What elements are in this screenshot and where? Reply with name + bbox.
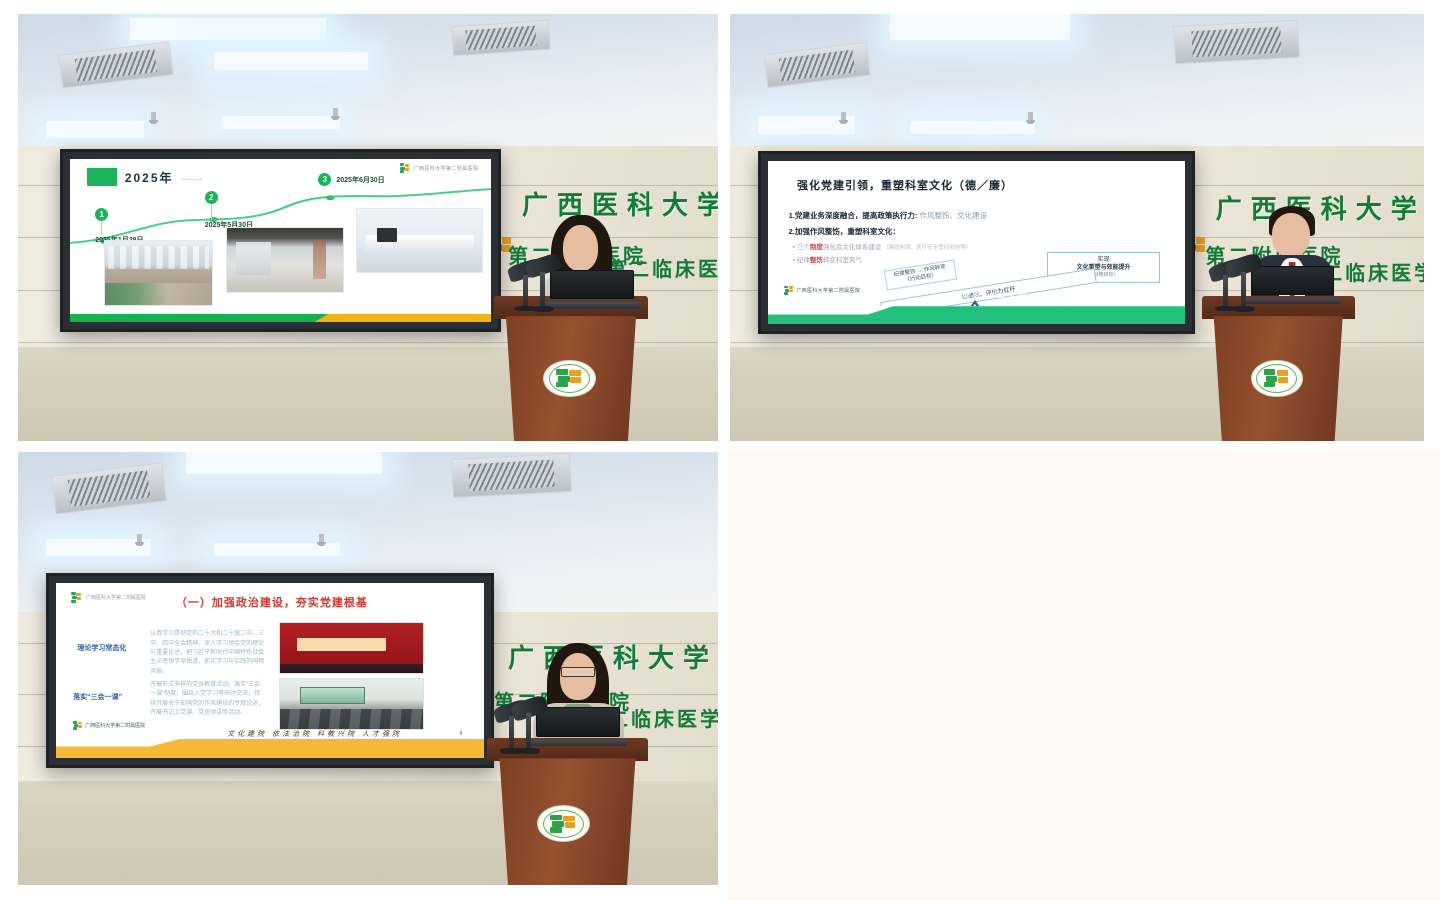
conference-room-scene: 广西医科大学 第二附属医院 第二临床医学院 强化党建引领，重塑科室文化（德／廉）… (730, 14, 1424, 441)
timeline-node-1: 1 2025年1月28日 (95, 208, 143, 245)
laptop-icon (550, 270, 634, 308)
face (1272, 213, 1310, 257)
slide-page-number: 4 (459, 731, 462, 737)
slide-canvas: 2025年 ...... 广西医科大学第二附属医院 (70, 159, 491, 323)
slide-political-construction: 广西医科大学第二附属医院 （一）加强政治建设，夯实党建根基 理论学习常态化 认真… (56, 583, 484, 758)
slide-brand: 广西医科大学第二附属医院 (400, 163, 479, 173)
slide-image-classroom-meeting (279, 678, 425, 730)
slide-footer (768, 306, 1185, 324)
goal-box-label: 实现 (1050, 256, 1157, 264)
hospital-logo-icon (784, 286, 793, 295)
led-display-screen[interactable]: 广西医科大学第二附属医院 （一）加强政治建设，夯实党建根基 理论学习常态化 认真… (46, 573, 494, 768)
sprinkler-icon (151, 112, 156, 121)
ceiling-light-icon (186, 452, 382, 474)
podium (494, 296, 648, 441)
ceiling-light-icon (890, 14, 1070, 40)
face (563, 225, 598, 271)
row-body-2: 开展形式多样的党员教育活动，落实“三会一课”制度，围绕入党学习等研讨交流，持续开… (150, 681, 266, 718)
ceiling-vent-icon (451, 453, 572, 498)
ceiling-vent-icon (451, 19, 551, 56)
sprinkler-icon (137, 534, 142, 543)
podium-seal-icon (543, 360, 595, 398)
photo-tile-speaker-female-timeline[interactable]: 广西医科大学 第二附属医院 第二临床医学院 2025年 ...... (18, 14, 718, 441)
slide-footer-brand: 广西医科大学第二附属医院 (784, 286, 860, 295)
slide-title: （一）加强政治建设，夯实党建根基 (176, 594, 368, 610)
footer-brand-label: 广西医科大学第二附属医院 (796, 287, 860, 294)
podium (487, 738, 648, 885)
slide-footer-green-bar (70, 314, 331, 322)
sprinkler-icon (333, 108, 338, 117)
conference-room-scene: 广西医科大学 第二附属医院 第二临床医学院 2025年 ...... (18, 14, 718, 441)
ceiling-light-icon (221, 116, 340, 129)
photo-tile-speaker-male-party-building[interactable]: 广西医科大学 第二附属医院 第二临床医学院 强化党建引领，重塑科室文化（德／廉）… (730, 14, 1424, 441)
led-display-screen[interactable]: 2025年 ...... 广西医科大学第二附属医院 (60, 149, 501, 333)
slide-title: 2025年 (125, 169, 174, 186)
slide-image-red-conference (279, 622, 425, 674)
slide-footer-slogan: 文化建院 依法治院 科教兴院 人才强院 (943, 291, 1118, 301)
row-label-2: 落实“三会一课” (73, 692, 122, 702)
green-chip (87, 168, 117, 186)
slide-2025-timeline: 2025年 ...... 广西医科大学第二附属医院 (70, 159, 491, 323)
slide-footer-yellow-bar (314, 314, 491, 322)
microphone-icon (1226, 257, 1261, 308)
sprinkler-icon (1028, 112, 1033, 121)
slide-title: 强化党建引领，重塑科室文化（德／廉） (797, 177, 1013, 193)
microphone-icon (512, 699, 547, 751)
slide-header: 2025年 ...... (87, 168, 203, 186)
microphone-icon (526, 257, 561, 308)
slide-title-dots: ...... (182, 172, 203, 182)
row-body-1: 认真学习贯彻党的二十大和二十届二中、三中、四中全会精神，深入学习领会党的理论与重… (150, 630, 266, 676)
photo-grid: 广西医科大学 第二附属医院 第二临床医学院 2025年 ...... (0, 0, 1440, 900)
timeline-node-3: 3 2025年6月30日 (318, 173, 384, 186)
laptop-icon (1251, 266, 1334, 304)
slide-brand: 广西医科大学第二附属医院 (71, 592, 146, 603)
slide-canvas: 广西医科大学第二附属医院 （一）加强政治建设，夯实党建根基 理论学习常态化 认真… (56, 583, 484, 758)
timeline-badge: 2 (205, 191, 218, 204)
timeline-node-2: 2 2025年5月30日 (205, 191, 253, 230)
slide-line-1: 1.党建业务深度融合，提高政策执行力: 作风整饬、文化建设 (789, 210, 987, 221)
ceiling-vent-icon (1173, 19, 1300, 64)
slide-bullet-1: ▪ 三个制度强化及文化体系建设 （廉政制度、医疗安全管控细则等） (793, 241, 971, 251)
podium-seal-icon (1251, 360, 1303, 398)
slide-line-2: 2.加强作风整饬，重塑科室文化： (789, 226, 900, 237)
ceiling-light-icon (214, 52, 368, 69)
ceiling (730, 14, 1424, 159)
ceiling-light-icon (910, 121, 1035, 134)
slide-footer-brand: 广西医科大学第二附属医院 (73, 721, 145, 730)
eyeglasses-icon (561, 667, 596, 677)
photo-tile-speaker-female-political-construction[interactable]: 广西医科大学 第二附属医院 第二临床医学院 (18, 452, 718, 885)
timeline-date: 2025年6月30日 (336, 175, 384, 185)
hospital-logo-icon (400, 163, 410, 173)
conference-room-scene: 广西医科大学 第二附属医院 第二临床医学院 (18, 452, 718, 885)
slide-brand-label: 广西医科大学第二附属医院 (414, 165, 479, 172)
slide-bullet-2: ▪ 纪律整饬转变科室风气 (793, 254, 862, 264)
slide-footer (56, 739, 484, 758)
footer-brand-label: 广西医科大学第二附属医院 (85, 722, 145, 729)
led-display-screen[interactable]: 强化党建引领，重塑科室文化（德／廉） 1.党建业务深度融合，提高政策执行力: 作… (758, 151, 1195, 335)
timeline-thumb-3 (356, 208, 482, 273)
timeline-thumb-1 (104, 240, 213, 305)
hospital-logo-icon (73, 721, 82, 730)
slide-party-building-culture: 强化党建引领，重塑科室文化（德／廉） 1.党建业务深度融合，提高政策执行力: 作… (768, 161, 1185, 325)
ceiling-light-icon (130, 18, 326, 39)
photo-tile-blank-placeholder (728, 450, 1440, 900)
sprinkler-icon (319, 534, 324, 543)
slide-footer-slogan: 文化建院 依法治院 科教兴院 人才强院 (227, 729, 402, 739)
slide-brand-label: 广西医科大学第二附属医院 (86, 594, 146, 601)
action-box: 纪律整饬 → 作风转变 （行动目标） (883, 260, 956, 291)
laptop-icon (536, 707, 620, 746)
timeline-badge: 1 (95, 208, 108, 221)
podium (1202, 296, 1355, 441)
timeline-thumb-2 (226, 227, 344, 292)
ceiling-light-icon (46, 121, 144, 138)
timeline-badge: 3 (318, 173, 331, 186)
slide-canvas: 强化党建引领，重塑科室文化（德／廉） 1.党建业务深度融合，提高政策执行力: 作… (768, 161, 1185, 325)
row-label-1: 理论学习常态化 (77, 643, 126, 653)
sprinkler-icon (841, 112, 846, 121)
hospital-logo-icon (71, 592, 82, 603)
ceiling-light-icon (46, 539, 151, 556)
